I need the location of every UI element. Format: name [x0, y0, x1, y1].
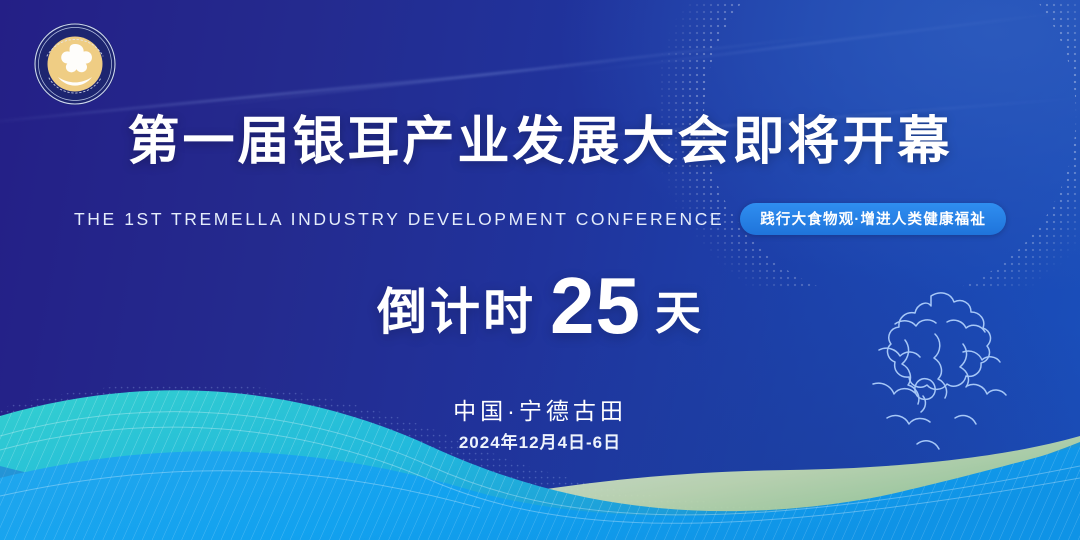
countdown-block: 倒计时 25 天: [0, 262, 1080, 344]
light-streak-decoration: [563, 7, 1080, 75]
countdown-unit: 天: [655, 277, 703, 343]
conference-emblem-logo: [33, 22, 117, 106]
slogan-badge: 践行大食物观·增进人类健康福祉: [740, 203, 1006, 235]
countdown-number: 25: [550, 266, 641, 346]
subtitle-row: THE 1ST TREMELLA INDUSTRY DEVELOPMENT CO…: [0, 203, 1080, 235]
countdown-label: 倒计时: [377, 272, 536, 344]
wave-decoration: [0, 350, 1080, 540]
subtitle-english: THE 1ST TREMELLA INDUSTRY DEVELOPMENT CO…: [74, 209, 724, 230]
page-title: 第一届银耳产业发展大会即将开幕: [0, 114, 1080, 171]
light-streak-decoration: [196, 33, 840, 108]
conference-countdown-banner: 第一届银耳产业发展大会即将开幕 THE 1ST TREMELLA INDUSTR…: [0, 0, 1080, 540]
